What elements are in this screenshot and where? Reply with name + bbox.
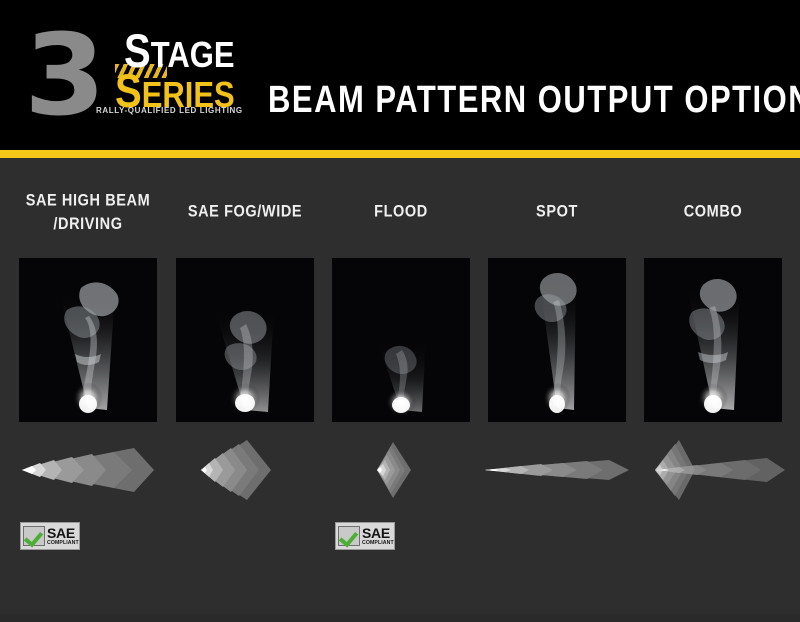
- yellow-divider: [0, 150, 800, 158]
- beam-diagram-flood: [327, 438, 475, 502]
- check-icon: [23, 526, 45, 546]
- page-title: BEAM PATTERN OUTPUT OPTIONS: [268, 78, 800, 122]
- beam-photo-render: [19, 258, 157, 422]
- logo-numeral: 3: [24, 28, 100, 124]
- column-label: FLOOD: [323, 201, 479, 225]
- beam-diagram-sae-high-beam-driving: [14, 438, 162, 502]
- beam-diagram-svg: [483, 438, 631, 502]
- beam-column-grid: SAE HIGH BEAM /DRIVING: [0, 158, 800, 622]
- column-label: SAE FOG/WIDE: [167, 201, 323, 225]
- beam-photo-flood[interactable]: [332, 258, 470, 422]
- badge-secondary-label: COMPLIANT: [47, 541, 79, 546]
- beam-column-sae-high-beam-driving[interactable]: SAE HIGH BEAM /DRIVING: [10, 158, 166, 622]
- column-label-line1: COMBO: [684, 203, 743, 221]
- column-label: COMBO: [635, 201, 791, 225]
- beam-column-flood[interactable]: FLOOD: [323, 158, 479, 622]
- beam-column-spot[interactable]: SPOT: [479, 158, 635, 622]
- column-label-line1: SPOT: [536, 203, 578, 221]
- column-label-line1: SAE FOG/WIDE: [188, 203, 302, 221]
- beam-diagram-svg: [327, 438, 475, 502]
- beam-photo-render: [488, 258, 626, 422]
- beam-diagram-svg: [171, 438, 319, 502]
- beam-photo-render: [176, 258, 314, 422]
- beam-column-combo[interactable]: COMBO: [635, 158, 791, 622]
- header-bar: 3 STAGE SERIES RALLY-QUALIFIED LED LIGHT…: [0, 0, 800, 150]
- beam-photo-render: [332, 258, 470, 422]
- sae-compliant-badge: SAE COMPLIANT: [20, 522, 80, 550]
- column-label-line1: SAE HIGH BEAM: [26, 192, 151, 210]
- bottom-edge: [0, 614, 800, 622]
- column-label: SAE HIGH BEAM /DRIVING: [10, 190, 166, 237]
- beam-photo-render: [644, 258, 782, 422]
- brand-logo: 3 STAGE SERIES RALLY-QUALIFIED LED LIGHT…: [24, 28, 239, 124]
- column-label-line2: /DRIVING: [10, 214, 166, 238]
- beam-diagram-combo: [639, 438, 787, 502]
- badge-text: SAE COMPLIANT: [47, 526, 79, 546]
- beam-diagram-svg: [14, 438, 162, 502]
- badge-primary-label: SAE: [47, 526, 79, 540]
- beam-photo-spot[interactable]: [488, 258, 626, 422]
- beam-diagram-spot: [483, 438, 631, 502]
- column-label-line1: FLOOD: [374, 203, 428, 221]
- column-label: SPOT: [479, 201, 635, 225]
- logo-tagline: RALLY-QUALIFIED LED LIGHTING: [96, 106, 243, 115]
- beam-pattern-poster: 3 STAGE SERIES RALLY-QUALIFIED LED LIGHT…: [0, 0, 800, 622]
- logo-stage-rest: TAGE: [151, 34, 235, 75]
- beam-diagram-svg: [639, 438, 787, 502]
- beam-photo-combo[interactable]: [644, 258, 782, 422]
- beam-diagram-sae-fog-wide: [171, 438, 319, 502]
- beam-column-sae-fog-wide[interactable]: SAE FOG/WIDE: [167, 158, 323, 622]
- beam-photo-sae-fog-wide[interactable]: [176, 258, 314, 422]
- beam-photo-sae-high-beam-driving[interactable]: [19, 258, 157, 422]
